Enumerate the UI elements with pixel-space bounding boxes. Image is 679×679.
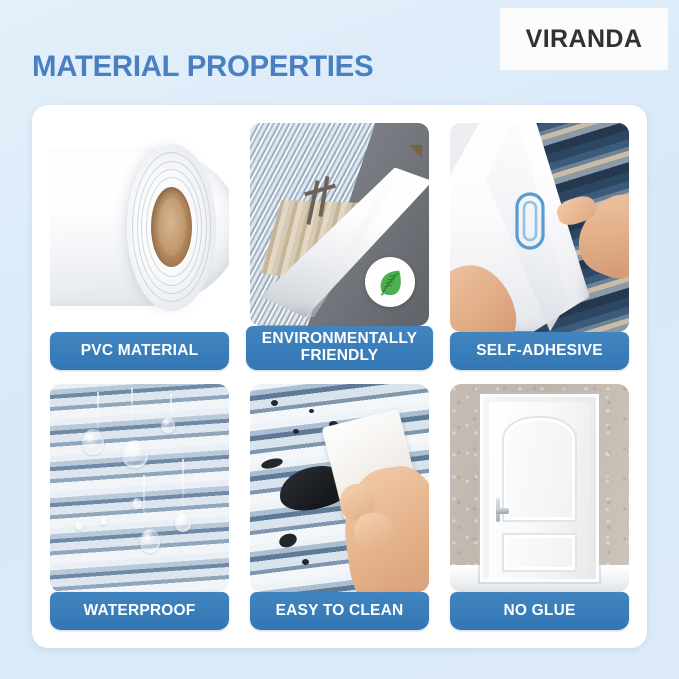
- feature-tile-waterproof[interactable]: WATERPROOF: [50, 384, 229, 631]
- feature-label-waterproof: WATERPROOF: [50, 592, 229, 630]
- feature-label-easy-to-clean: EASY TO CLEAN: [250, 592, 429, 630]
- leaf-icon: [375, 267, 405, 297]
- page-title: MATERIAL PROPERTIES: [32, 50, 373, 84]
- feature-tile-self-adhesive[interactable]: SELF-ADHESIVE: [450, 123, 629, 370]
- no-glue-door-image: [450, 384, 629, 593]
- brand-logo-box: VIRANDA: [500, 8, 668, 70]
- feature-tile-pvc-material[interactable]: PVC MATERIAL: [50, 123, 229, 370]
- waterproof-droplets-image: [50, 384, 229, 593]
- easy-to-clean-wipe-image: [250, 384, 429, 593]
- features-grid: PVC MATERIAL ENVIRONMENTALLY FR: [50, 123, 629, 630]
- brand-name: VIRANDA: [526, 25, 643, 54]
- feature-tile-no-glue[interactable]: NO GLUE: [450, 384, 629, 631]
- paperclip-icon: [513, 190, 547, 252]
- feature-tile-easy-to-clean[interactable]: EASY TO CLEAN: [250, 384, 429, 631]
- self-adhesive-peel-image: [450, 123, 629, 332]
- features-card: PVC MATERIAL ENVIRONMENTALLY FR: [32, 105, 647, 648]
- pvc-roll-image: [50, 123, 229, 332]
- leaf-badge: [365, 257, 415, 307]
- feature-label-environmentally-friendly: ENVIRONMENTALLY FRIENDLY: [246, 326, 433, 370]
- feature-label-no-glue: NO GLUE: [450, 592, 629, 630]
- feature-tile-environmentally-friendly[interactable]: ENVIRONMENTALLY FRIENDLY: [250, 123, 429, 370]
- feature-label-pvc-material: PVC MATERIAL: [50, 332, 229, 370]
- eco-peeling-wallpaper-image: [250, 123, 429, 326]
- feature-label-self-adhesive: SELF-ADHESIVE: [450, 332, 629, 370]
